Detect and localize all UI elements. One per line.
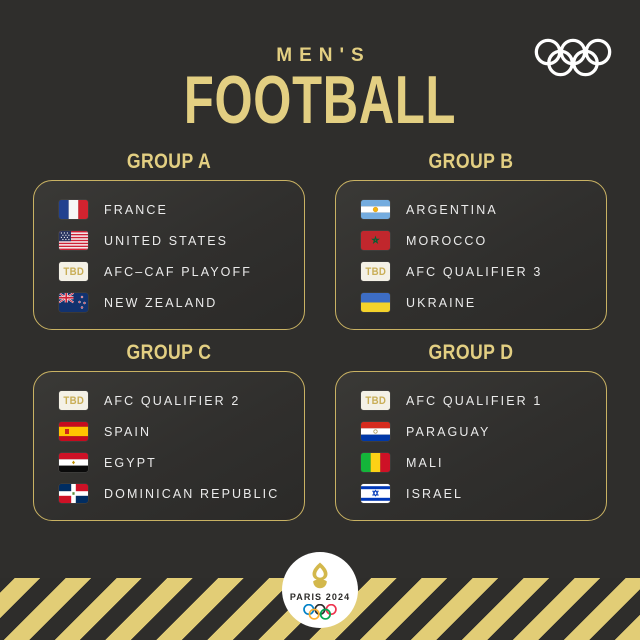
paris-2024-flame-icon <box>305 561 335 591</box>
tbd-placeholder: TBD <box>361 391 390 410</box>
team-name: AFC QUALIFIER 2 <box>104 394 240 408</box>
team-row[interactable]: PARAGUAY <box>336 416 606 447</box>
israel-flag <box>361 484 390 503</box>
morocco-flag <box>361 231 390 250</box>
spain-flag <box>59 422 88 441</box>
new-zealand-flag <box>59 293 88 312</box>
egypt-flag <box>59 453 88 472</box>
group-title: GROUP A <box>55 150 283 178</box>
olympic-rings-color-icon <box>303 604 337 619</box>
group-team-list: FRANCE UNITED STATES TBD AFC–CAF PLA <box>33 180 305 330</box>
team-name: UNITED STATES <box>104 234 228 248</box>
tbd-label: TBD <box>365 395 386 407</box>
team-name: NEW ZEALAND <box>104 296 217 310</box>
group-panel-b: GROUP B ARGENTINA MOROCCO TBD AFC QUALIF… <box>335 150 607 330</box>
tbd-placeholder: TBD <box>59 262 88 281</box>
group-panel-d: GROUP D TBD AFC QUALIFIER 1 PARAGUAY MAL… <box>335 341 607 521</box>
team-name: ISRAEL <box>406 487 463 501</box>
team-name: AFC–CAF PLAYOFF <box>104 265 252 279</box>
team-row[interactable]: FRANCE <box>34 194 304 225</box>
team-row[interactable]: TBD AFC QUALIFIER 1 <box>336 385 606 416</box>
united-states-flag <box>59 231 88 250</box>
group-panel-c: GROUP C TBD AFC QUALIFIER 2 SPAIN EGYPT <box>33 341 305 521</box>
group-title: GROUP B <box>357 150 585 178</box>
argentina-flag <box>361 200 390 219</box>
team-name: MOROCCO <box>406 234 487 248</box>
group-team-list: TBD AFC QUALIFIER 1 PARAGUAY MALI <box>335 371 607 521</box>
team-name: FRANCE <box>104 203 168 217</box>
team-row[interactable]: MOROCCO <box>336 225 606 256</box>
infographic-poster: MEN'S FOOTBALL GROUP A FRANCE <box>0 0 640 640</box>
tbd-label: TBD <box>63 395 84 407</box>
team-row[interactable]: NEW ZEALAND <box>34 287 304 318</box>
team-name: SPAIN <box>104 425 151 439</box>
team-row[interactable]: ISRAEL <box>336 478 606 509</box>
team-row[interactable]: UKRAINE <box>336 287 606 318</box>
tbd-placeholder: TBD <box>59 391 88 410</box>
team-row[interactable]: ARGENTINA <box>336 194 606 225</box>
team-row[interactable]: EGYPT <box>34 447 304 478</box>
ukraine-flag <box>361 293 390 312</box>
tbd-placeholder: TBD <box>361 262 390 281</box>
dominican-republic-flag <box>59 484 88 503</box>
olympic-rings-icon <box>534 38 612 76</box>
france-flag <box>59 200 88 219</box>
mali-flag <box>361 453 390 472</box>
paraguay-flag <box>361 422 390 441</box>
team-name: EGYPT <box>104 456 157 470</box>
group-title: GROUP D <box>357 341 585 369</box>
group-title: GROUP C <box>55 341 283 369</box>
team-name: ARGENTINA <box>406 203 498 217</box>
badge-text: PARIS 2024 <box>290 592 350 602</box>
team-row[interactable]: DOMINICAN REPUBLIC <box>34 478 304 509</box>
team-row[interactable]: TBD AFC QUALIFIER 3 <box>336 256 606 287</box>
tbd-label: TBD <box>63 266 84 278</box>
team-row[interactable]: TBD AFC QUALIFIER 2 <box>34 385 304 416</box>
team-row[interactable]: SPAIN <box>34 416 304 447</box>
paris-2024-badge: PARIS 2024 <box>282 552 358 628</box>
tbd-label: TBD <box>365 266 386 278</box>
team-row[interactable]: MALI <box>336 447 606 478</box>
team-name: AFC QUALIFIER 1 <box>406 394 542 408</box>
team-name: UKRAINE <box>406 296 476 310</box>
team-name: PARAGUAY <box>406 425 490 439</box>
group-panel-a: GROUP A FRANCE UNITED STATES <box>33 150 305 330</box>
team-name: MALI <box>406 456 444 470</box>
team-row[interactable]: UNITED STATES <box>34 225 304 256</box>
team-row[interactable]: TBD AFC–CAF PLAYOFF <box>34 256 304 287</box>
group-team-list: TBD AFC QUALIFIER 2 SPAIN EGYPT <box>33 371 305 521</box>
page-title: FOOTBALL <box>90 64 551 136</box>
team-name: DOMINICAN REPUBLIC <box>104 487 279 501</box>
group-team-list: ARGENTINA MOROCCO TBD AFC QUALIFIER 3 UK… <box>335 180 607 330</box>
team-name: AFC QUALIFIER 3 <box>406 265 542 279</box>
